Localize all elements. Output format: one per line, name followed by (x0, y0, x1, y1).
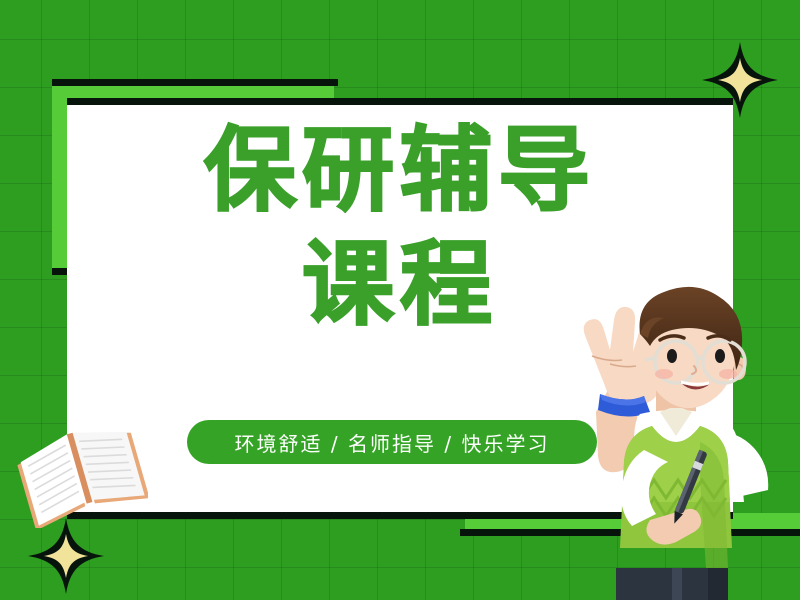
poster-canvas: 保研辅导 课程 环境舒适 / 名师指导 / 快乐学习 (0, 0, 800, 600)
subtitle-text: 环境舒适 / 名师指导 / 快乐学习 (235, 428, 550, 457)
card-top-rule (67, 98, 733, 105)
sparkle-icon (700, 40, 780, 125)
subtitle-pill: 环境舒适 / 名师指导 / 快乐学习 (187, 420, 597, 464)
student-character-illustration (548, 282, 800, 600)
open-book-icon (14, 418, 148, 533)
accent-bar-left (52, 86, 68, 268)
